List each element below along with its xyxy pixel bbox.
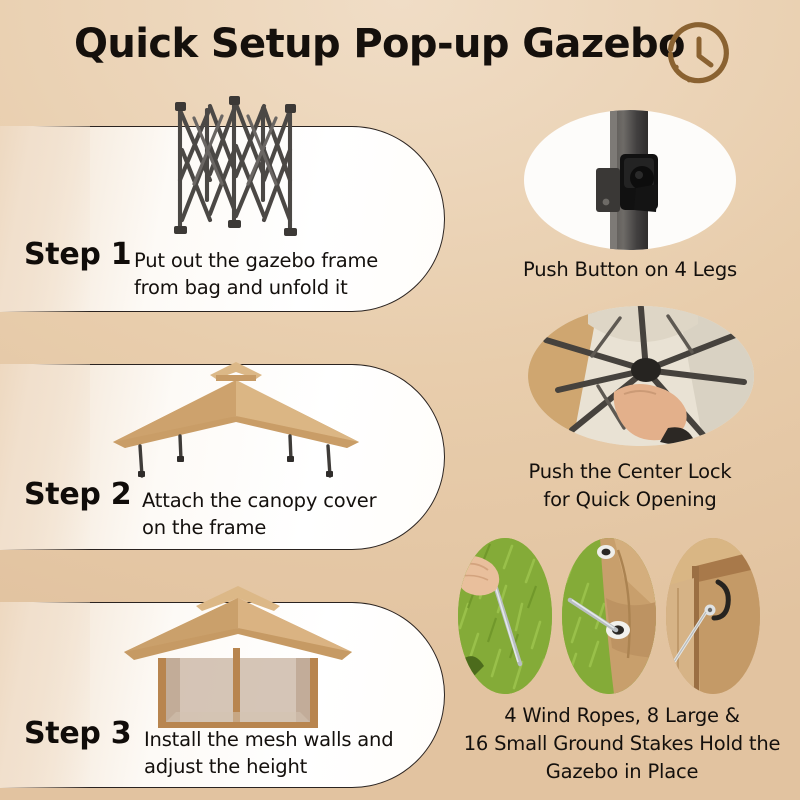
step-2-label: Step 2: [24, 477, 131, 512]
gazebo-mesh-walls-illustration: [114, 584, 362, 738]
folded-gazebo-frame-illustration: [150, 88, 320, 240]
page-title: Quick Setup Pop-up Gazebo: [74, 21, 685, 67]
step-3-label: Step 3: [24, 716, 131, 751]
feature-3-caption: 4 Wind Ropes, 8 Large & 16 Small Ground …: [444, 702, 800, 786]
step-1-label: Step 1: [24, 237, 131, 272]
step-3-text: Install the mesh walls and adjust the he…: [144, 726, 393, 780]
gazebo-canopy-illustration: [104, 358, 368, 478]
stake-through-grommet-photo: [562, 538, 656, 694]
step-1-text: Put out the gazebo frame from bag and un…: [134, 247, 378, 301]
hand-holding-stake-photo: [458, 538, 552, 694]
wind-rope-on-canopy-photo: [666, 538, 760, 694]
feature-2-caption: Push the Center Lock for Quick Opening: [460, 458, 800, 514]
push-button-leg-photo: [524, 110, 736, 250]
center-lock-hand-photo: [528, 306, 754, 446]
step-2-text: Attach the canopy cover on the frame: [142, 487, 376, 541]
clock-icon: [664, 20, 734, 90]
feature-1-caption: Push Button on 4 Legs: [460, 256, 800, 284]
infographic-canvas: Quick Setup Pop-up Gazebo: [0, 0, 800, 800]
